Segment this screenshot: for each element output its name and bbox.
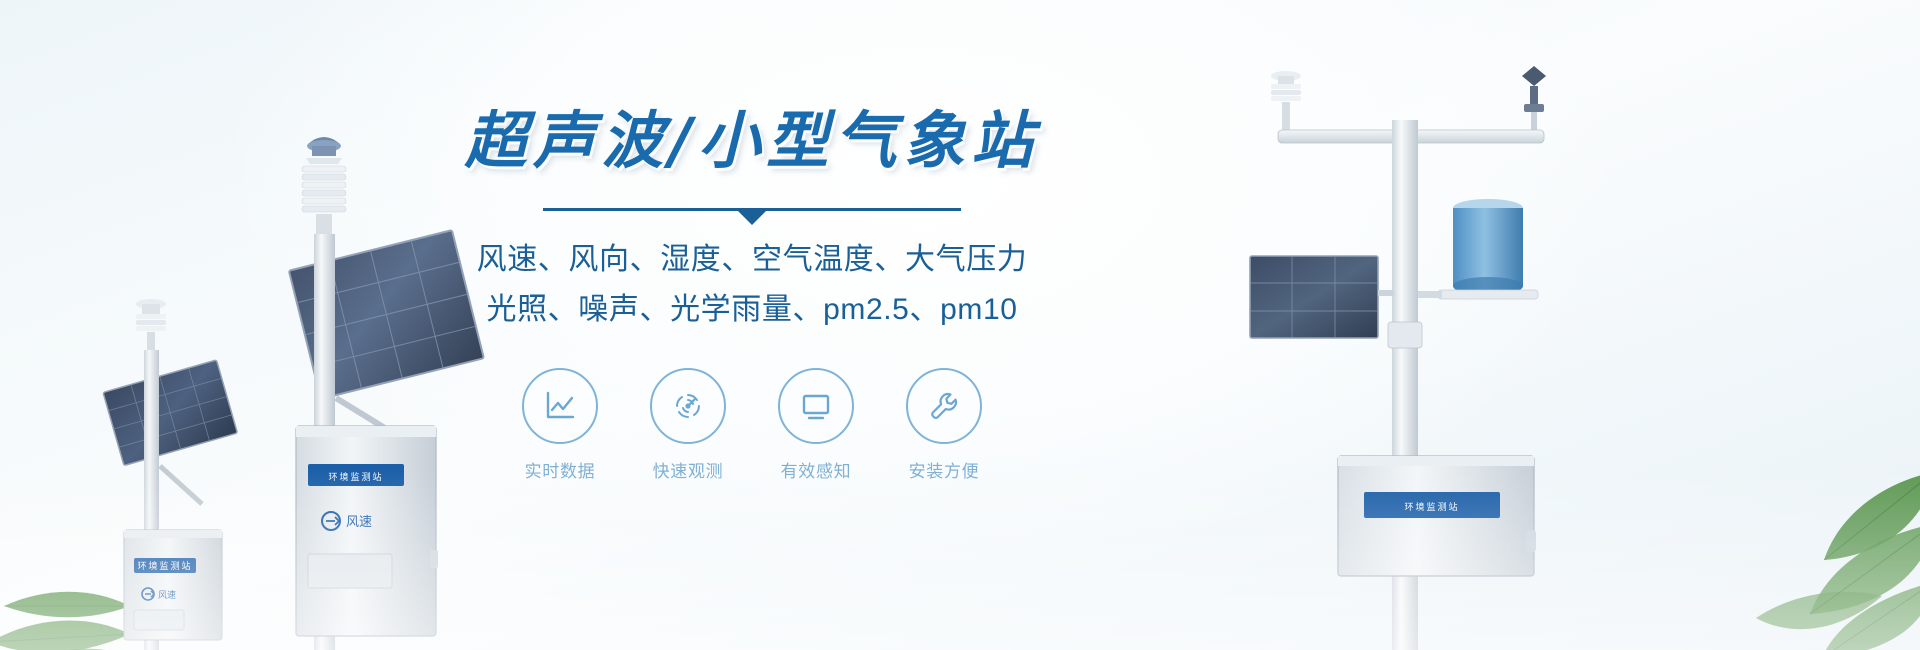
rain-gauge bbox=[1418, 199, 1538, 299]
ultrasonic-anemometer-icon bbox=[1271, 71, 1301, 130]
feature-list: 实时数据 bbox=[452, 368, 1052, 482]
svg-text:风速: 风速 bbox=[158, 590, 176, 601]
feature-item-fast-observation[interactable]: 快速观测 bbox=[645, 368, 731, 482]
feature-icon-wrapper bbox=[778, 368, 854, 444]
wrench-icon bbox=[924, 386, 964, 426]
leaf-decoration-right bbox=[1634, 360, 1920, 650]
subtitle-line-2: 光照、噪声、光学雨量、pm2.5、pm10 bbox=[452, 287, 1052, 334]
feature-icon-wrapper bbox=[906, 368, 982, 444]
feature-label: 快速观测 bbox=[645, 457, 731, 482]
feature-item-easy-installation[interactable]: 安装方便 bbox=[901, 368, 987, 482]
banner-content: 超声波/小型气象站 风速、风向、湿度、空气温度、大气压力 光照、噪声、光学雨量、… bbox=[452, 108, 1052, 482]
nameplate-text: 环境监测站 bbox=[328, 471, 383, 483]
feature-label: 安装方便 bbox=[901, 457, 987, 482]
feature-item-effective-sensing[interactable]: 有效感知 bbox=[773, 368, 859, 482]
line-chart-icon bbox=[540, 386, 580, 426]
enclosure-box: 环境监测站 风速 bbox=[124, 530, 222, 640]
feature-label: 有效感知 bbox=[773, 457, 859, 482]
feature-item-realtime-data[interactable]: 实时数据 bbox=[517, 368, 603, 482]
nameplate-text: 环境监测站 bbox=[137, 560, 192, 572]
radiation-shield bbox=[302, 166, 346, 240]
subtitle-block: 风速、风向、湿度、空气温度、大气压力 光照、噪声、光学雨量、pm2.5、pm10 bbox=[452, 237, 1052, 334]
subtitle-line-1: 风速、风向、湿度、空气温度、大气压力 bbox=[452, 237, 1052, 284]
equipment-weather-station-large: 环境监测站 bbox=[1242, 60, 1572, 650]
nameplate-text: 环境监测站 bbox=[1404, 501, 1459, 513]
radar-scan-icon bbox=[668, 386, 708, 426]
svg-text:风速: 风速 bbox=[346, 515, 372, 530]
chevron-down-icon bbox=[737, 210, 767, 225]
sensor-dome-icon bbox=[306, 137, 342, 164]
title-divider bbox=[543, 208, 961, 211]
page-title: 超声波/小型气象站 bbox=[452, 108, 1052, 174]
enclosure-box: 环境监测站 风速 bbox=[296, 426, 438, 636]
monitor-icon bbox=[796, 386, 836, 426]
solar-panel bbox=[103, 360, 237, 466]
solar-panel-array bbox=[1250, 256, 1394, 338]
feature-icon-wrapper bbox=[522, 368, 598, 444]
sensor-head-icon bbox=[136, 299, 166, 354]
weather-station-banner: 环境监测站 风速 bbox=[0, 0, 1920, 650]
equipment-weather-station-small: 环境监测站 风速 bbox=[98, 290, 288, 650]
mast-clamp bbox=[1388, 322, 1422, 348]
wind-vane-icon bbox=[1522, 66, 1546, 134]
enclosure-box: 环境监测站 bbox=[1338, 456, 1536, 576]
feature-icon-wrapper bbox=[650, 368, 726, 444]
feature-label: 实时数据 bbox=[517, 457, 603, 482]
